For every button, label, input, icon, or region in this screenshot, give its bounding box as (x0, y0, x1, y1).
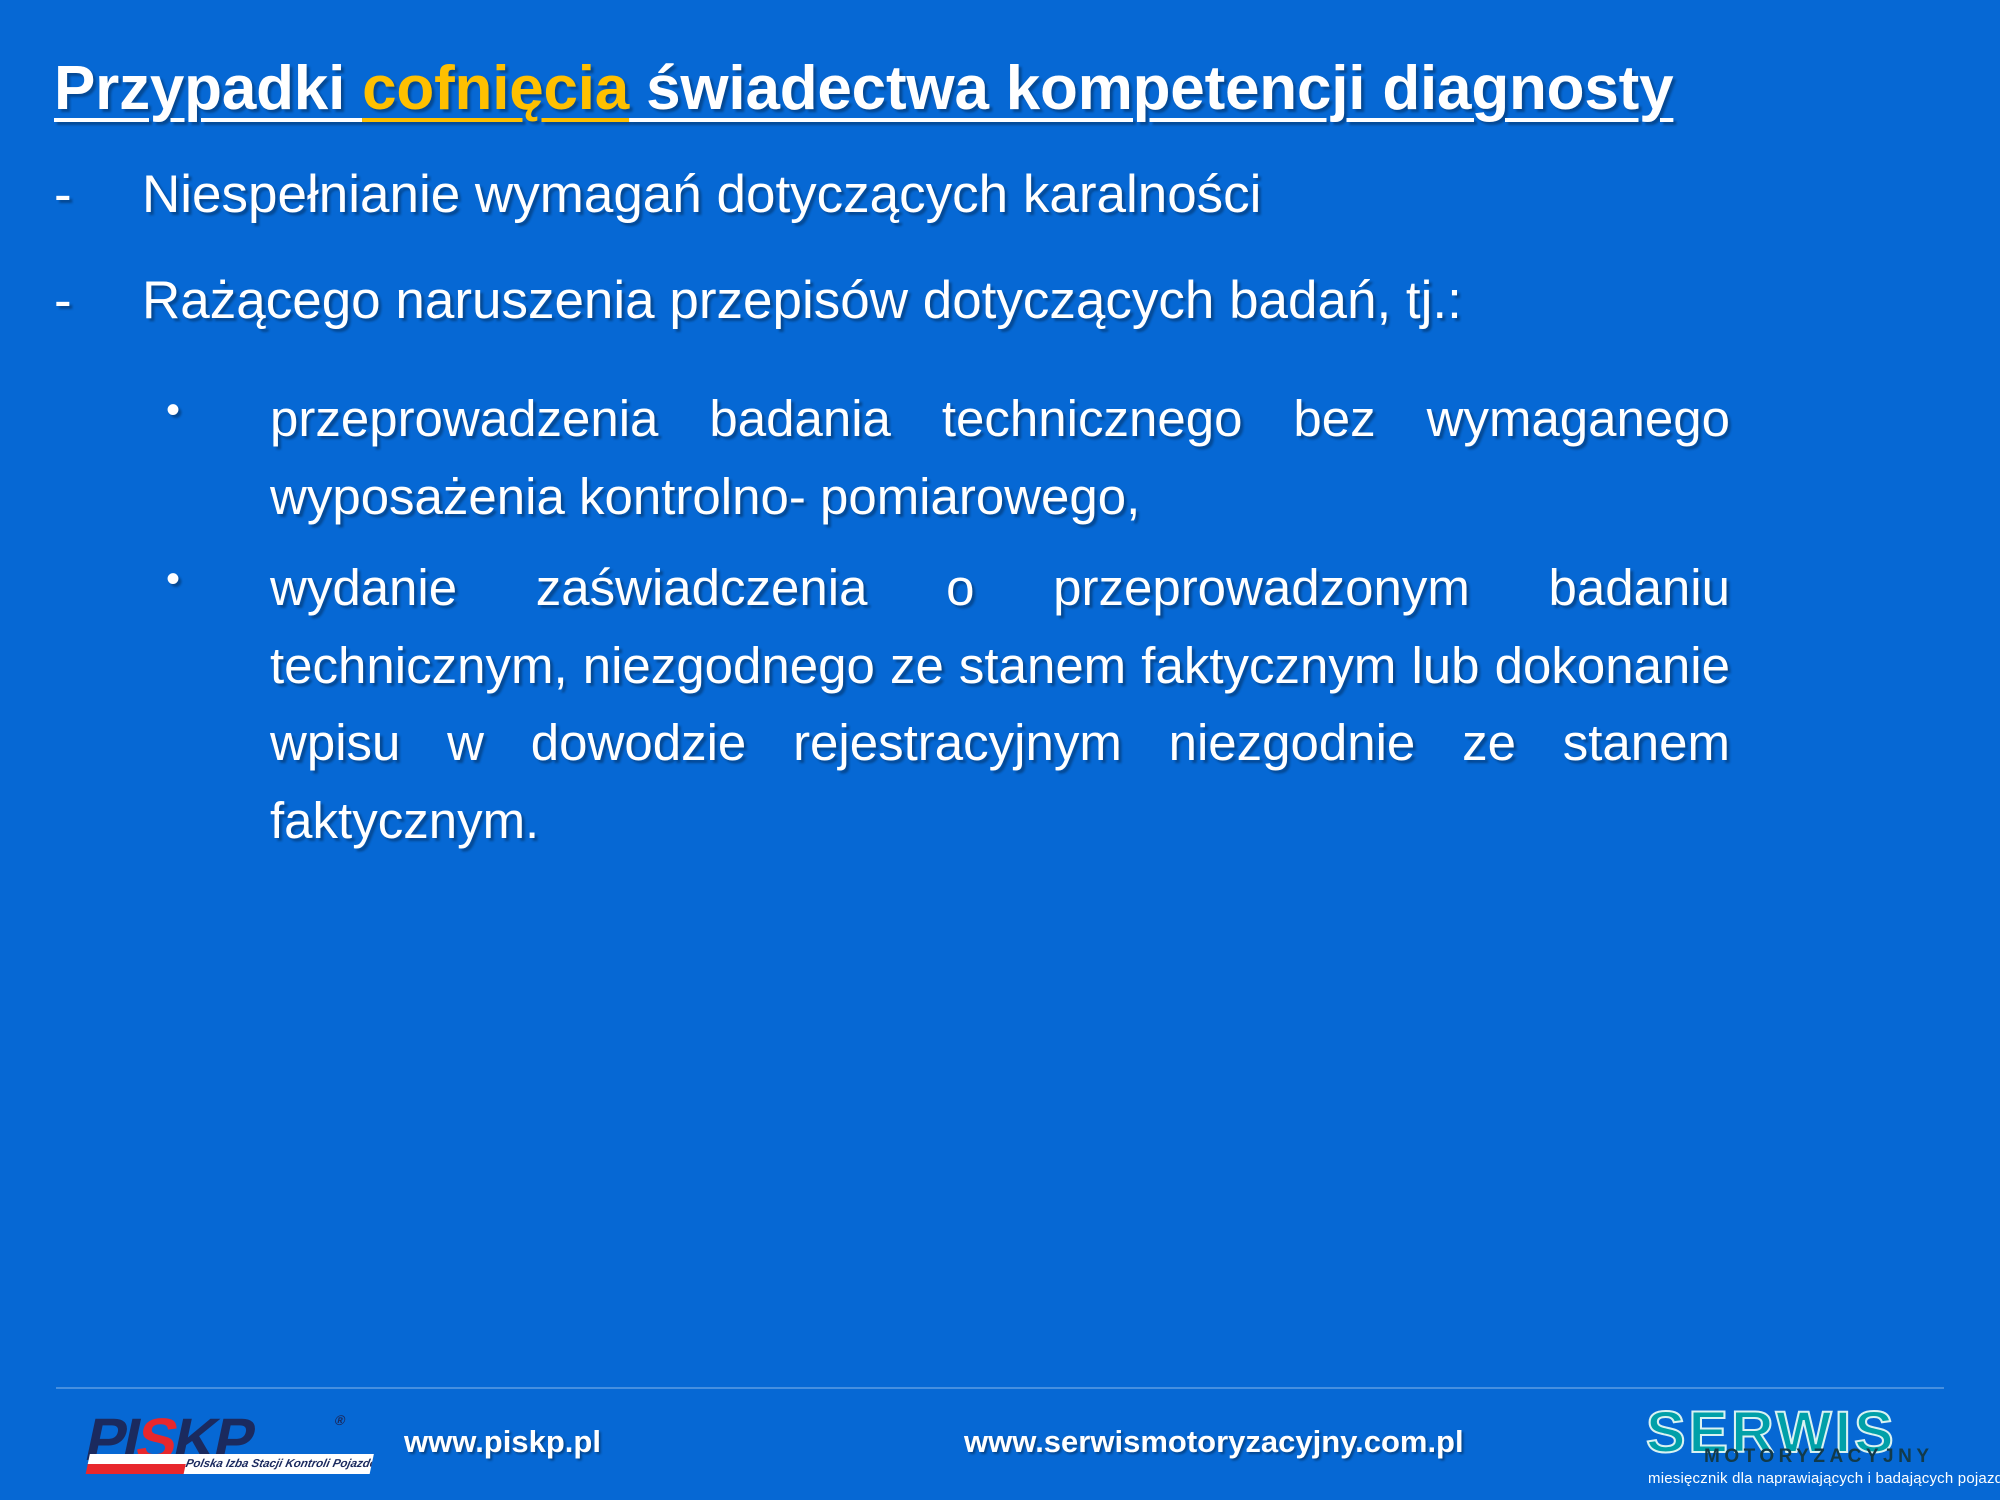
title-highlight: cofnięcia (362, 54, 629, 123)
dash-marker-icon: - (54, 274, 142, 328)
flag-red-stripe (86, 1464, 192, 1474)
footer-divider (56, 1387, 1944, 1389)
serwis-website-url[interactable]: www.serwismotoryzacyjny.com.pl (964, 1424, 1464, 1460)
registered-trademark-icon: ® (333, 1412, 347, 1428)
bullet-dot-icon: • (54, 380, 270, 441)
bullet-level2-item: • wydanie zaświadczenia o przeprowadzony… (54, 549, 1954, 859)
page-title: Przypadki cofnięcia świadectwa kompetenc… (54, 56, 1954, 121)
slide-title-block: Przypadki cofnięcia świadectwa kompetenc… (54, 56, 1954, 121)
serwis-logo-subtitle: MOTORYZACYJNY (1704, 1446, 1934, 1468)
slide-body: - Niespełnianie wymagań dotyczących kara… (54, 168, 1954, 873)
slide-footer: PISKP ® Polska Izba Stacji Kontroli Poja… (0, 1398, 2000, 1500)
title-part-2: świadectwa kompetencji diagnosty (629, 54, 1673, 123)
serwis-logo: SERWIS MOTORYZACYJNY miesięcznik dla nap… (1646, 1404, 1936, 1490)
bullet-level1-text: Rażącego naruszenia przepisów dotyczącyc… (142, 274, 1954, 328)
piskp-logo-tagline: Polska Izba Stacji Kontroli Pojazdów (184, 1454, 374, 1474)
flag-white-stripe (88, 1454, 194, 1464)
bullet-level1-item: - Rażącego naruszenia przepisów dotycząc… (54, 274, 1954, 328)
piskp-logo: PISKP ® Polska Izba Stacji Kontroli Poja… (70, 1408, 375, 1480)
bullet-level2-text: wydanie zaświadczenia o przeprowadzonym … (270, 549, 1730, 859)
bullet-level1-text: Niespełnianie wymagań dotyczących karaln… (142, 168, 1954, 222)
serwis-logo-tagline: miesięcznik dla naprawiających i badając… (1648, 1470, 2000, 1487)
polish-flag-icon (86, 1454, 194, 1474)
title-part-1: Przypadki (54, 54, 362, 123)
bullet-level2-item: • przeprowadzenia badania technicznego b… (54, 380, 1954, 535)
bullet-level2-text: przeprowadzenia badania technicznego bez… (270, 380, 1730, 535)
slide-canvas: Przypadki cofnięcia świadectwa kompetenc… (0, 0, 2000, 1500)
piskp-website-url[interactable]: www.piskp.pl (404, 1424, 601, 1460)
bullet-level1-item: - Niespełnianie wymagań dotyczących kara… (54, 168, 1954, 222)
bullet-dot-icon: • (54, 549, 270, 610)
dash-marker-icon: - (54, 168, 142, 222)
